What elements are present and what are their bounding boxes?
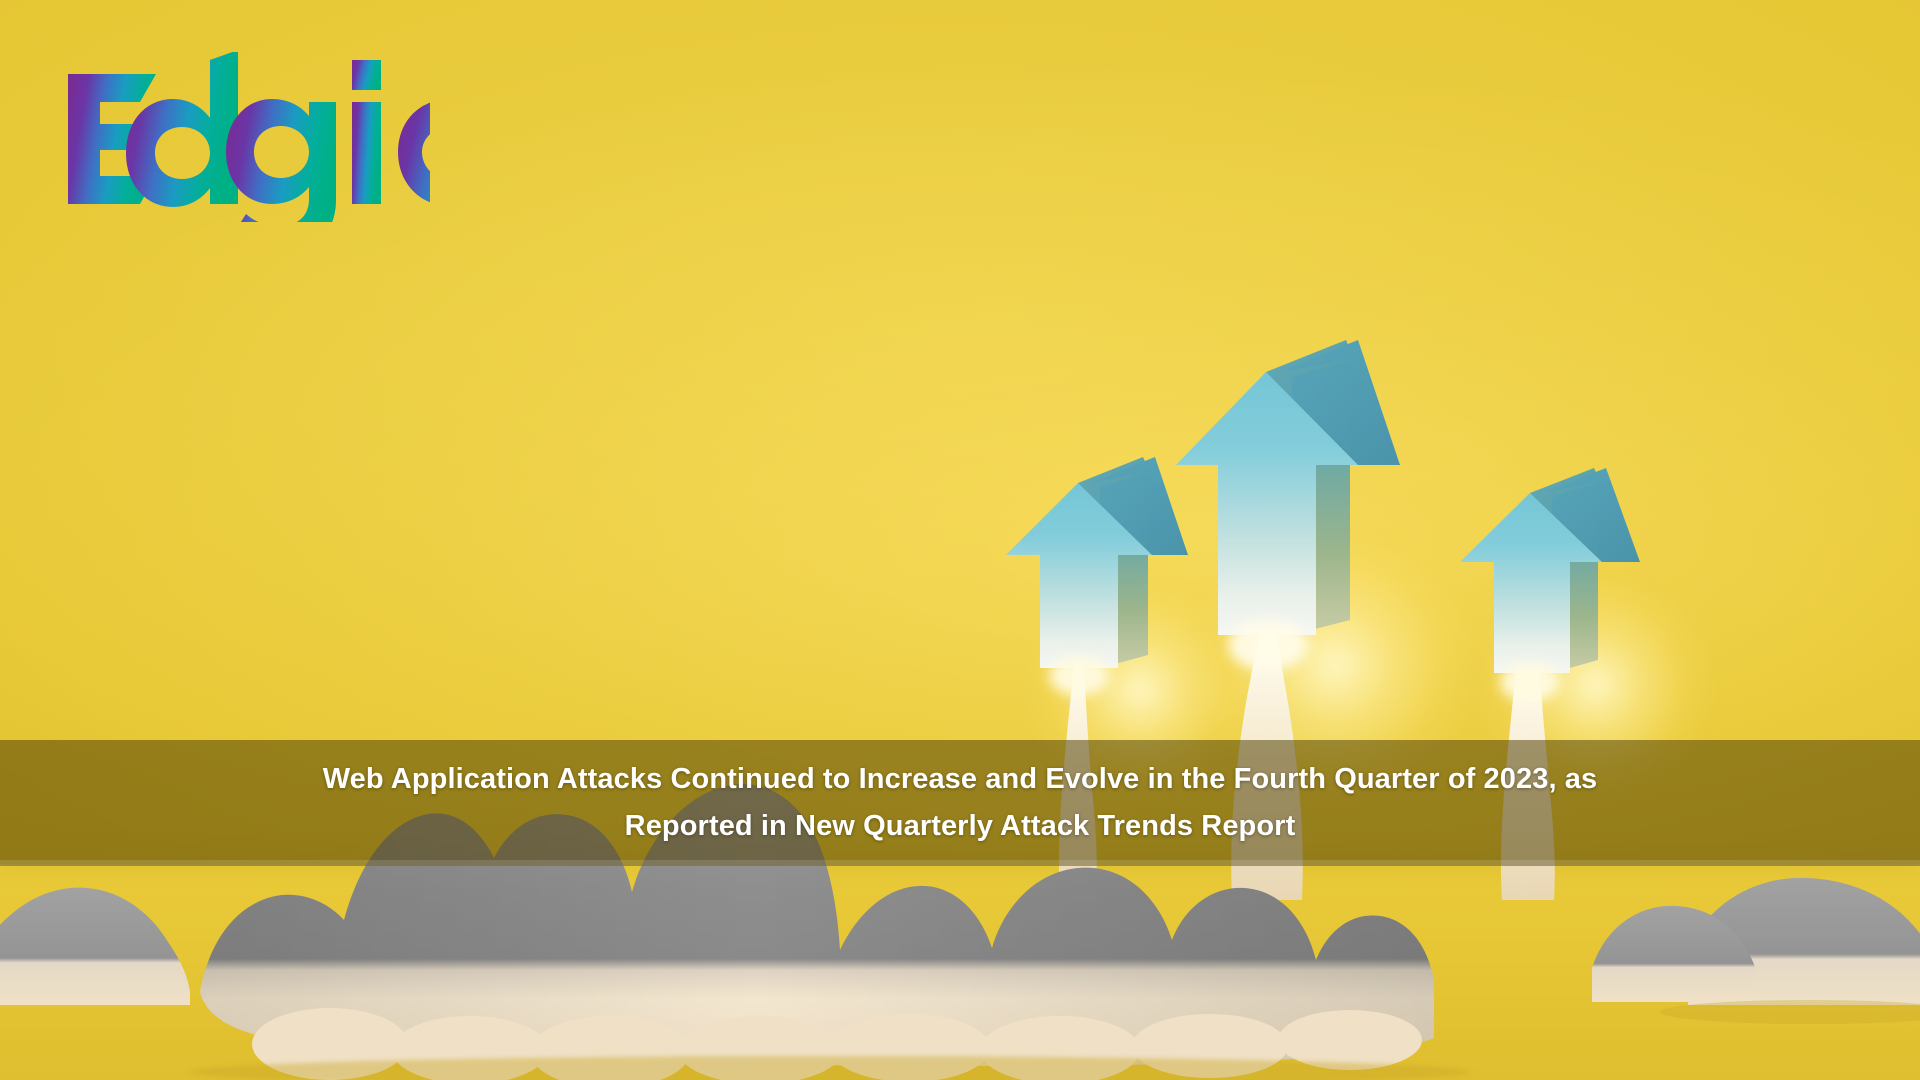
arrow-center — [1176, 340, 1400, 635]
banner-bottom-strip — [0, 860, 1920, 866]
cloud-far-left — [0, 888, 190, 1005]
headline-line-1: Web Application Attacks Continued to Inc… — [323, 756, 1598, 803]
hero-stage: Web Application Attacks Continued to Inc… — [0, 0, 1920, 1080]
arrows-illustration — [0, 0, 1920, 1080]
headline-banner: Web Application Attacks Continued to Inc… — [0, 740, 1920, 866]
headline-line-2: Reported in New Quarterly Attack Trends … — [625, 803, 1296, 850]
